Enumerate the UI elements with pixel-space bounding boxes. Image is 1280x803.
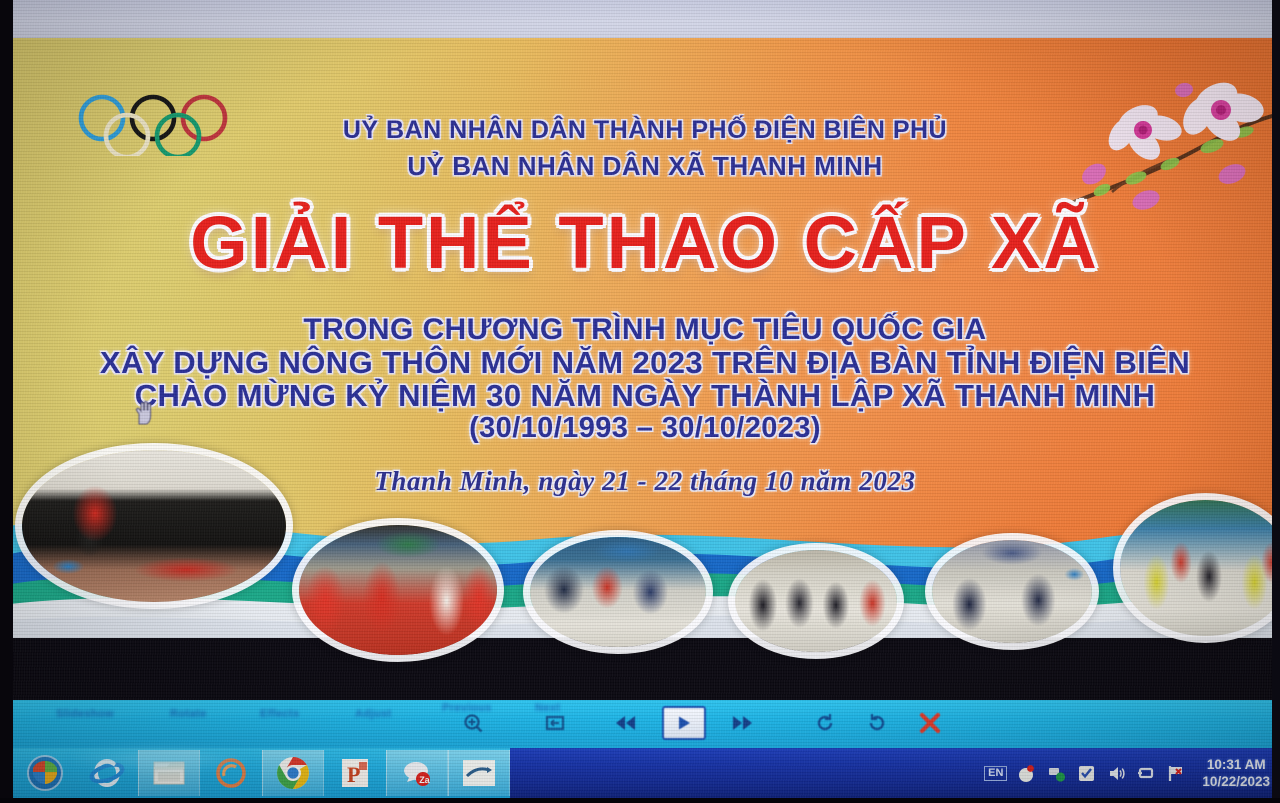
antivirus-icon[interactable] bbox=[1016, 763, 1037, 784]
media-player-button[interactable] bbox=[448, 750, 510, 796]
rotate-right-button-icon[interactable] bbox=[862, 708, 892, 738]
monitor-bezel-right bbox=[1272, 0, 1280, 803]
powerpoint-button[interactable]: P bbox=[324, 750, 386, 796]
powerpoint-icon: P bbox=[340, 757, 370, 789]
flag-action-center-icon[interactable] bbox=[1166, 763, 1187, 784]
monitor-bezel-bottom bbox=[0, 798, 1280, 803]
volume-icon[interactable] bbox=[1106, 763, 1127, 784]
media-player-icon bbox=[461, 758, 497, 788]
zalo-icon: Za bbox=[400, 757, 434, 789]
image-viewer-canvas[interactable]: UỶ BAN NHÂN DÂN THÀNH PHỐ ĐIỆN BIÊN PHỦ … bbox=[10, 0, 1280, 700]
firefox-icon bbox=[215, 757, 247, 789]
control-label-4: Adjust bbox=[355, 708, 392, 722]
svg-text:Za: Za bbox=[419, 775, 430, 785]
language-indicator[interactable]: EN bbox=[984, 766, 1007, 781]
banner-org-line-2: UỶ BAN NHÂN DÂN XÃ THANH MINH bbox=[10, 151, 1280, 182]
zalo-button[interactable]: Za bbox=[386, 750, 448, 796]
previous-button-icon[interactable] bbox=[610, 708, 640, 738]
internet-explorer-icon bbox=[89, 756, 125, 790]
photo-traditional-costume-crowd bbox=[523, 530, 713, 654]
monitor-bezel-left bbox=[0, 0, 13, 803]
hand-pointer-cursor bbox=[132, 400, 154, 426]
banner-sub-line-2: XÂY DỰNG NÔNG THÔN MỚI NĂM 2023 TRÊN ĐỊA… bbox=[10, 347, 1280, 379]
banner-sub-line-4: (30/10/1993 – 30/10/2023) bbox=[10, 414, 1280, 444]
fit-screen-icon[interactable] bbox=[540, 708, 570, 738]
photo-tug-of-war-spectators bbox=[728, 543, 904, 659]
clock-time: 10:31 AM bbox=[1202, 756, 1270, 773]
zoom-control-icon[interactable] bbox=[458, 708, 488, 738]
play-button-icon[interactable] bbox=[662, 706, 706, 740]
folder-icon bbox=[152, 758, 186, 788]
windows-taskbar[interactable]: P Za EN bbox=[10, 748, 1280, 798]
network-icon[interactable] bbox=[1046, 763, 1067, 784]
chrome-icon bbox=[275, 755, 311, 791]
clock-date: 10/22/2023 bbox=[1202, 773, 1270, 790]
start-orb-button[interactable] bbox=[14, 750, 76, 796]
control-label-3: Effects bbox=[260, 708, 299, 722]
system-tray: EN 10:31 AM 10/22/2023 bbox=[984, 748, 1276, 798]
viewer-top-strip bbox=[10, 0, 1280, 38]
banner-org-line-1: UỶ BAN NHÂN DÂN THÀNH PHỐ ĐIỆN BIÊN PHỦ bbox=[10, 116, 1280, 145]
svg-text:P: P bbox=[347, 762, 360, 787]
photo-award-ceremony-group bbox=[292, 518, 504, 662]
photo-tug-of-war-match bbox=[925, 533, 1099, 650]
firefox-button[interactable] bbox=[200, 750, 262, 796]
taskbar-buttons: P Za bbox=[10, 748, 510, 798]
banner-sub-line-3: CHÀO MỪNG KỶ NIỆM 30 NĂM NGÀY THÀNH LẬP … bbox=[10, 380, 1280, 412]
taskbar-clock[interactable]: 10:31 AM 10/22/2023 bbox=[1202, 756, 1276, 790]
banner-place-date: Thanh Minh, ngày 21 - 22 tháng 10 năm 20… bbox=[10, 466, 1280, 497]
banner-main-title: GIẢI THỂ THAO CẤP XÃ bbox=[10, 206, 1280, 280]
next-button-icon[interactable] bbox=[728, 708, 758, 738]
photo-volleyball-match bbox=[1113, 493, 1280, 643]
media-player-control-bar[interactable]: Slideshow Rotate Effects Adjust Previous… bbox=[10, 700, 1280, 748]
security-shield-icon[interactable] bbox=[1076, 763, 1097, 784]
control-label-2: Rotate bbox=[170, 708, 207, 722]
control-label-1: Slideshow bbox=[56, 708, 114, 722]
start-orb-icon bbox=[26, 754, 64, 792]
monitor-photo: UỶ BAN NHÂN DÂN THÀNH PHỐ ĐIỆN BIÊN PHỦ … bbox=[0, 0, 1280, 803]
file-explorer-button[interactable] bbox=[138, 750, 200, 796]
banner-sub-line-1: TRONG CHƯƠNG TRÌNH MỤC TIÊU QUỐC GIA bbox=[10, 315, 1280, 346]
rotate-left-button-icon[interactable] bbox=[810, 708, 840, 738]
google-chrome-button[interactable] bbox=[262, 750, 324, 796]
event-banner: UỶ BAN NHÂN DÂN THÀNH PHỐ ĐIỆN BIÊN PHỦ … bbox=[10, 38, 1280, 638]
close-button-icon[interactable] bbox=[915, 708, 945, 738]
usb-device-icon[interactable] bbox=[1136, 763, 1157, 784]
internet-explorer-button[interactable] bbox=[76, 750, 138, 796]
